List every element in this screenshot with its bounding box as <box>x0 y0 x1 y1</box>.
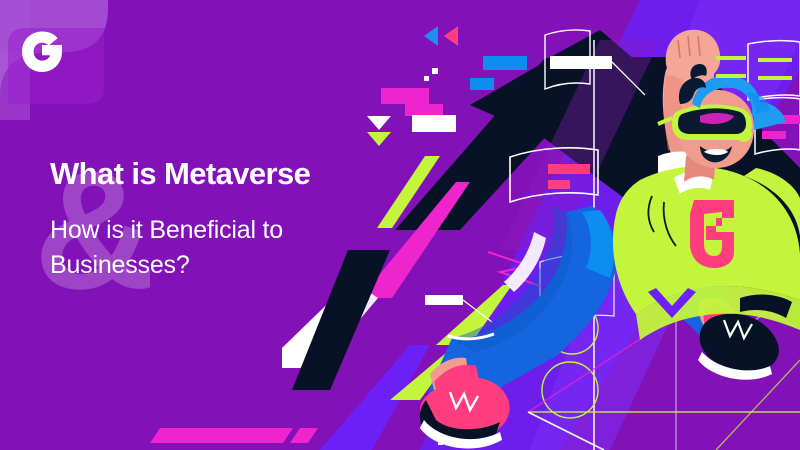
band-navy-diagonal <box>520 30 800 330</box>
letter-g-logo-icon[interactable] <box>16 22 72 78</box>
stripe-white-diagonal-2 <box>300 290 378 376</box>
banner-text-block: What is Metaverse How is it Beneficial t… <box>50 158 410 284</box>
character-jean-seam <box>504 232 546 292</box>
character-shoe-back-laces <box>724 320 752 338</box>
character-arm-raised <box>663 48 716 170</box>
vr-goggles-glare <box>700 113 734 124</box>
vr-goggles-frame <box>672 105 752 140</box>
bar-white <box>412 115 456 132</box>
ui-panel-curved-left <box>510 148 598 202</box>
logo-g-path <box>22 32 62 73</box>
subtitle-line-2: Businesses? <box>50 248 410 284</box>
triangle-white-down-icon <box>367 116 391 130</box>
character-fist <box>666 30 721 81</box>
ui-panel-curved-right-top <box>748 41 800 100</box>
character-sock-front <box>434 365 482 410</box>
ui-panel-bar-pink-a <box>548 164 590 174</box>
ui-panel-top-connector <box>550 56 645 95</box>
square-white-bottom-a <box>430 430 436 436</box>
character-head <box>677 90 754 168</box>
character-arm-right <box>744 168 800 236</box>
character-leg-front <box>428 206 617 401</box>
accent-lime-bar-b <box>716 74 746 78</box>
band-navy-wedge <box>395 58 618 230</box>
zigzag-magenta <box>488 252 540 286</box>
character-leg-back-shade <box>648 258 730 322</box>
stripe-white-diagonal <box>282 282 366 368</box>
band-violet-diagonal-2 <box>530 0 800 450</box>
wedge-purple-overlay <box>500 40 660 250</box>
vr-character-illustration <box>420 30 800 449</box>
character-sock-back-skin <box>699 298 734 336</box>
character-hair <box>679 78 706 104</box>
circle-outline-lime-b <box>542 362 598 418</box>
character-neck <box>684 152 716 183</box>
character-hoodie <box>613 167 800 314</box>
character-collar <box>674 170 714 194</box>
parallelogram-violet-bottom <box>320 345 430 450</box>
character-shoe-front-sole <box>420 420 502 449</box>
square-white-small-a <box>432 68 438 74</box>
character-glove <box>740 295 792 318</box>
character-shoe-front-lower <box>420 400 500 443</box>
page-subtitle: How is it Beneficial to Businesses? <box>50 213 410 284</box>
triangle-lime-down-icon <box>367 132 391 146</box>
line-white-diagonal-b <box>744 282 800 330</box>
character-leg-front-hi <box>582 210 614 278</box>
character-leg-front-shade <box>452 208 572 352</box>
character-shoe-back <box>700 314 779 372</box>
ui-panel-bar-pink-b <box>548 180 570 189</box>
ui-panel-outline-lower <box>540 253 614 324</box>
connector-line-lower <box>463 300 492 322</box>
character-chest-logo <box>690 200 734 268</box>
line-lime-diagonal-b <box>716 360 800 450</box>
bar-blue-wide <box>483 56 527 70</box>
bar-white-lower <box>425 295 463 305</box>
circle-outline-lime-a <box>546 302 598 354</box>
line-white-diagonal-a <box>528 412 604 450</box>
square-white-bottom-c <box>444 414 449 419</box>
triangle-pink-left-icon <box>444 26 458 46</box>
character-jean-cuff <box>448 334 494 339</box>
ui-panel-curved-right-bottom <box>755 98 800 154</box>
metaverse-banner: & What is Metaverse How is it Beneficial… <box>0 0 800 450</box>
character-sock-front-skin <box>430 358 470 398</box>
character-mouth <box>700 146 732 162</box>
bar-magenta-step-top <box>381 88 429 104</box>
character-shoe-back-sole <box>698 352 772 380</box>
character-fist-knuckles <box>678 36 700 58</box>
subtitle-line-1: How is it Beneficial to <box>50 213 410 249</box>
square-white-bottom-b <box>438 440 443 445</box>
character-shoe-front-upper <box>420 377 510 439</box>
vr-goggles-lens <box>678 108 746 134</box>
character-hoodie-string-b <box>648 196 654 232</box>
character-hair-tuft <box>690 64 706 80</box>
character-cap-shade <box>746 92 770 114</box>
character-sleeve-cuff <box>658 152 712 179</box>
character-cap-crown <box>692 75 761 118</box>
character-teeth <box>704 149 728 155</box>
bottom-stripe-magenta-2 <box>290 428 318 443</box>
bar-magenta-step-bottom <box>405 104 443 116</box>
bottom-stripe-magenta <box>150 428 293 443</box>
character-leg-back <box>622 244 732 336</box>
page-title: What is Metaverse <box>50 158 410 191</box>
band-navy-diagonal-b <box>470 57 800 250</box>
line-magenta-diagonal <box>528 300 700 412</box>
character-shoe-front-laces <box>450 392 478 410</box>
shape-lime-bottom-b <box>390 352 455 400</box>
accent-lime-bar-a <box>716 56 746 60</box>
triangle-blue-left-icon <box>424 26 438 46</box>
band-violet-diagonal <box>420 0 800 450</box>
character-earpiece <box>736 126 752 142</box>
character-hoodie-string-a <box>664 202 676 246</box>
character-cap-brim <box>752 102 786 130</box>
bar-blue-small <box>470 78 494 90</box>
ui-panel-curved-left-far <box>545 30 590 89</box>
character-sock-back <box>704 305 740 344</box>
square-white-small-b <box>424 76 429 81</box>
character-hoodie-hem <box>636 286 800 340</box>
vr-goggles-strap <box>658 118 672 124</box>
shape-lime-bottom-a <box>436 285 512 345</box>
character-arm-shade <box>664 74 690 156</box>
character-hem-chevron <box>648 288 696 318</box>
